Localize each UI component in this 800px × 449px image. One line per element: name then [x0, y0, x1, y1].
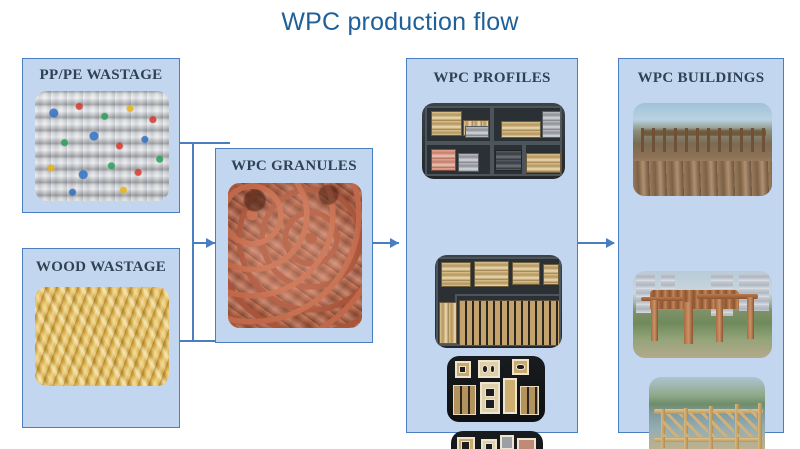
- arrow-granules-to-profiles: [390, 238, 399, 248]
- wood-chips-photo: [35, 287, 169, 386]
- node-label-wpc-granules: WPC GRANULES: [216, 158, 372, 175]
- node-wpc-buildings[interactable]: WPC BUILDINGS: [618, 58, 784, 433]
- connector-pp-pe-to-merge: [180, 142, 230, 144]
- node-label-wpc-profiles: WPC PROFILES: [407, 70, 577, 87]
- hollow-profile-sections-photo: [447, 356, 545, 422]
- node-pp-pe-wastage[interactable]: PP/PE WASTAGE: [22, 58, 180, 213]
- page-title: WPC production flow: [0, 8, 800, 37]
- node-wood-wastage[interactable]: WOOD WASTAGE: [22, 248, 180, 428]
- node-wpc-granules[interactable]: WPC GRANULES: [215, 148, 373, 343]
- node-wpc-profiles[interactable]: WPC PROFILES: [406, 58, 578, 433]
- diagram-canvas: WPC production flow PP/PE WASTAGE WOOD W…: [0, 0, 800, 449]
- node-label-wpc-buildings: WPC BUILDINGS: [619, 70, 783, 87]
- arrow-merge-to-granules: [206, 238, 215, 248]
- lakeside-railing-photo: [649, 377, 765, 449]
- profile-stacks-shelf-photo: [435, 255, 562, 348]
- node-label-wood-wastage: WOOD WASTAGE: [23, 259, 179, 276]
- pergola-courtyard-photo: [633, 271, 772, 358]
- boardwalk-deck-photo: [633, 103, 772, 196]
- profile-shelf-display-photo: [422, 103, 565, 179]
- wpc-granules-photo: [228, 183, 362, 328]
- node-label-pp-pe-wastage: PP/PE WASTAGE: [23, 67, 179, 84]
- arrow-profiles-to-buildings: [606, 238, 615, 248]
- hollow-profile-sections-dark-photo: [451, 431, 543, 449]
- baled-plastic-waste-photo: [35, 91, 169, 201]
